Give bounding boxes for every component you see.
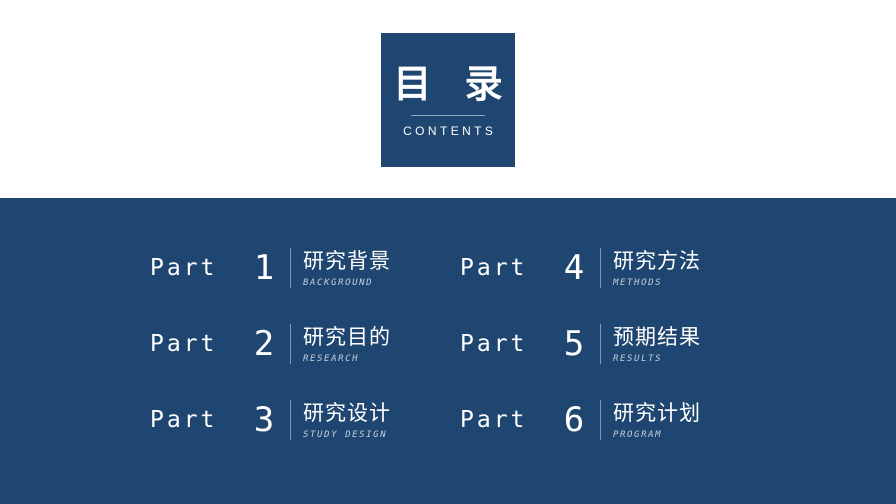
item-label-en: BACKGROUND (303, 278, 391, 288)
contents-panel: Part 1 研究背景 BACKGROUND Part 4 研究方法 METHO… (0, 198, 896, 504)
slide-title-en: CONTENTS (400, 124, 497, 138)
part-number: 6 (552, 403, 596, 437)
part-number: 2 (242, 327, 286, 361)
contents-item-1[interactable]: Part 1 研究背景 BACKGROUND (150, 230, 460, 306)
item-label-cn: 预期结果 (613, 325, 701, 350)
contents-grid: Part 1 研究背景 BACKGROUND Part 4 研究方法 METHO… (150, 230, 760, 458)
slide-title-cn: 目 录 (383, 62, 512, 106)
contents-item-6[interactable]: Part 6 研究计划 PROGRAM (460, 382, 760, 458)
part-word: Part (460, 255, 552, 281)
part-word: Part (460, 407, 552, 433)
contents-item-2[interactable]: Part 2 研究目的 RESEARCH (150, 306, 460, 382)
item-label-en: RESEARCH (303, 354, 391, 364)
item-labels: 研究设计 STUDY DESIGN (303, 401, 391, 440)
item-label-cn: 研究计划 (613, 401, 701, 426)
part-number: 4 (552, 251, 596, 285)
title-divider (411, 115, 485, 116)
item-label-cn: 研究设计 (303, 401, 391, 426)
part-word: Part (150, 255, 242, 281)
item-label-en: STUDY DESIGN (303, 430, 391, 440)
part-word: Part (460, 331, 552, 357)
part-number: 3 (242, 403, 286, 437)
item-label-cn: 研究背景 (303, 249, 391, 274)
item-label-cn: 研究目的 (303, 325, 391, 350)
presentation-slide: 目 录 CONTENTS Part 1 研究背景 BACKGROUND Part… (0, 0, 896, 504)
item-divider (290, 248, 291, 288)
item-labels: 预期结果 RESULTS (613, 325, 701, 364)
item-divider (600, 248, 601, 288)
contents-item-4[interactable]: Part 4 研究方法 METHODS (460, 230, 760, 306)
item-divider (290, 400, 291, 440)
title-box: 目 录 CONTENTS (381, 33, 515, 167)
item-label-en: PROGRAM (613, 430, 701, 440)
item-labels: 研究目的 RESEARCH (303, 325, 391, 364)
item-label-en: METHODS (613, 278, 701, 288)
contents-item-3[interactable]: Part 3 研究设计 STUDY DESIGN (150, 382, 460, 458)
item-divider (600, 400, 601, 440)
part-number: 1 (242, 251, 286, 285)
item-label-cn: 研究方法 (613, 249, 701, 274)
part-word: Part (150, 407, 242, 433)
item-labels: 研究计划 PROGRAM (613, 401, 701, 440)
part-word: Part (150, 331, 242, 357)
item-divider (600, 324, 601, 364)
part-number: 5 (552, 327, 596, 361)
item-label-en: RESULTS (613, 354, 701, 364)
contents-item-5[interactable]: Part 5 预期结果 RESULTS (460, 306, 760, 382)
title-zone: 目 录 CONTENTS (0, 0, 896, 198)
item-labels: 研究方法 METHODS (613, 249, 701, 288)
item-labels: 研究背景 BACKGROUND (303, 249, 391, 288)
item-divider (290, 324, 291, 364)
